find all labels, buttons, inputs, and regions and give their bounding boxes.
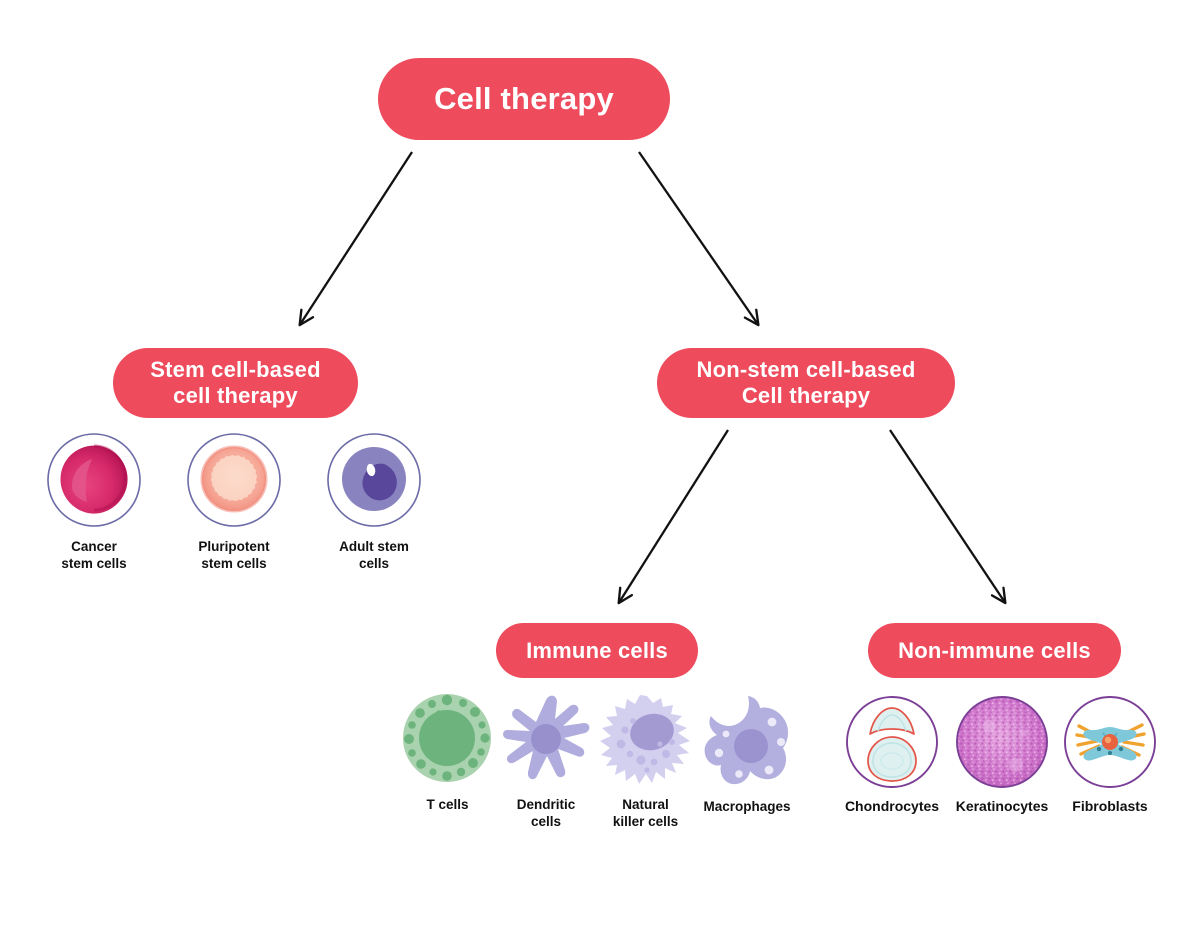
list-item-cancer-stem-cells[interactable]: Cancer stem cells [42, 428, 146, 573]
list-item-label: Dendritic cells [517, 797, 576, 831]
macrophage-icon [699, 690, 795, 792]
list-item-label: T cells [426, 797, 468, 814]
list-item-chondrocytes[interactable]: Chondrocytes [843, 693, 941, 816]
chondrocyte-icon [843, 693, 941, 791]
list-item-label: Pluripotent stem cells [198, 539, 269, 573]
diagram-canvas: Cell therapy Stem cell-based cell therap… [0, 0, 1200, 927]
list-item-keratinocytes[interactable]: Keratinocytes [953, 693, 1051, 816]
list-item-dendritic-cells[interactable]: Dendritic cells [500, 692, 592, 831]
arrow-root-to-non-stem [639, 152, 757, 323]
arrow-non-stem-to-immune [620, 430, 728, 601]
list-item-label: Natural killer cells [613, 797, 678, 831]
dendritic-cell-icon [500, 692, 592, 790]
pluripotent-stem-cell-icon [182, 428, 286, 532]
list-item-label: Adult stem cells [339, 539, 409, 573]
node-non-stem-cell-based-therapy[interactable]: Non-stem cell-based Cell therapy [657, 348, 955, 418]
list-item-fibroblasts[interactable]: Fibroblasts [1063, 693, 1157, 816]
arrow-root-to-stem [301, 152, 412, 323]
list-item-label: Fibroblasts [1072, 798, 1147, 816]
adult-stem-cell-icon [322, 428, 426, 532]
list-item-label: Chondrocytes [845, 798, 939, 816]
node-non-immune-cells[interactable]: Non-immune cells [868, 623, 1121, 678]
list-item-pluripotent-stem-cells[interactable]: Pluripotent stem cells [182, 428, 286, 573]
keratinocyte-icon [953, 693, 1051, 791]
list-item-natural-killer-cells[interactable]: Natural killer cells [597, 692, 694, 831]
node-cell-therapy[interactable]: Cell therapy [378, 58, 670, 140]
node-stem-cell-based-therapy[interactable]: Stem cell-based cell therapy [113, 348, 358, 418]
list-item-label: Macrophages [703, 799, 790, 816]
list-item-label: Keratinocytes [956, 798, 1049, 816]
list-item-macrophages[interactable]: Macrophages [699, 690, 795, 816]
node-immune-cells[interactable]: Immune cells [496, 623, 698, 678]
list-item-label: Cancer stem cells [61, 539, 126, 573]
list-item-t-cells[interactable]: T cells [401, 692, 494, 814]
list-item-adult-stem-cells[interactable]: Adult stem cells [322, 428, 426, 573]
arrow-non-stem-to-non-immune [890, 430, 1004, 601]
fibroblast-icon [1063, 693, 1157, 791]
cancer-stem-cell-icon [42, 428, 146, 532]
natural-killer-cell-icon [597, 692, 694, 790]
t-cell-icon [401, 692, 494, 790]
